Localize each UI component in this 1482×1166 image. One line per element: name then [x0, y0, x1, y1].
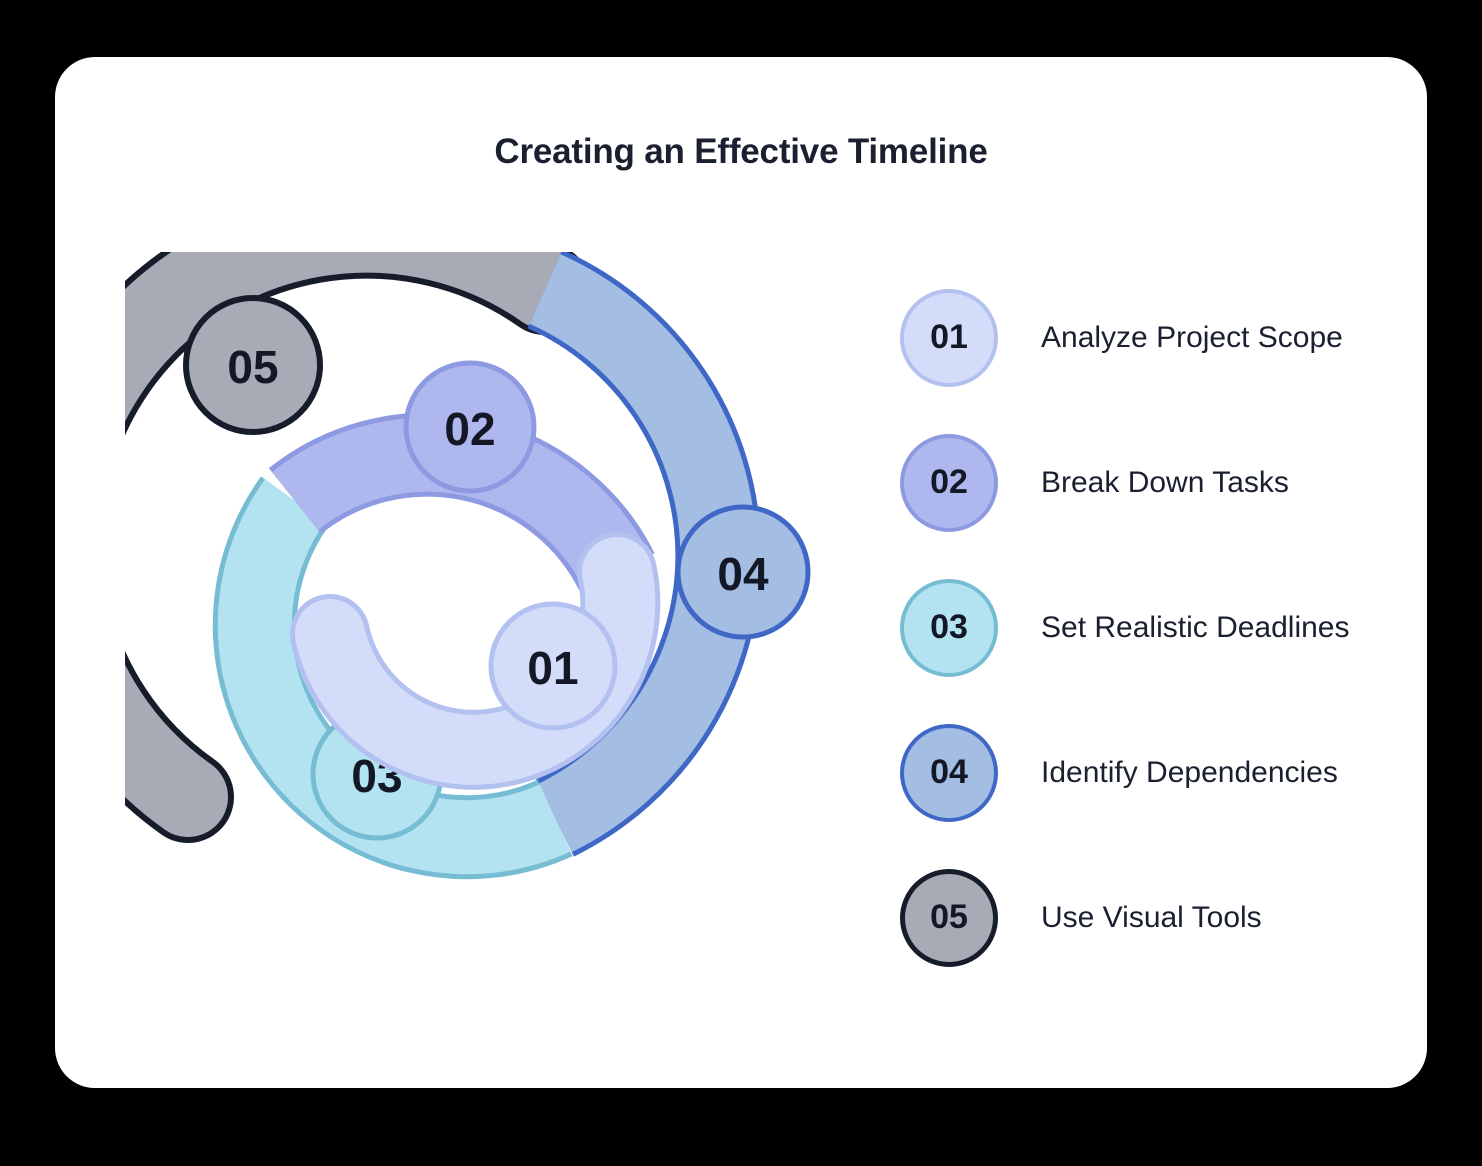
spiral-number-01: 01	[527, 642, 578, 694]
legend-item-04[interactable]: 04 Identify Dependencies	[900, 700, 1400, 845]
spiral-segment-02[interactable]: 02	[295, 363, 617, 572]
spiral-number-05: 05	[227, 341, 278, 393]
legend-badge-04: 04	[900, 724, 998, 822]
legend-item-05[interactable]: 05 Use Visual Tools	[900, 845, 1400, 990]
legend-badge-01: 01	[900, 289, 998, 387]
legend-label-01: Analyze Project Scope	[1041, 321, 1343, 355]
spiral-number-04: 04	[717, 548, 769, 600]
legend-label-02: Break Down Tasks	[1041, 466, 1289, 500]
legend-item-01[interactable]: 01 Analyze Project Scope	[900, 265, 1400, 410]
legend-item-02[interactable]: 02 Break Down Tasks	[900, 410, 1400, 555]
legend-label-04: Identify Dependencies	[1041, 756, 1338, 790]
spiral-segment-01[interactable]: 01	[330, 572, 620, 750]
legend-item-03[interactable]: 03 Set Realistic Deadlines	[900, 555, 1400, 700]
spiral-svg: 05 04 03 02	[125, 252, 865, 902]
legend-badge-02: 02	[900, 434, 998, 532]
legend: 01 Analyze Project Scope 02 Break Down T…	[900, 265, 1400, 990]
spiral-diagram: 05 04 03 02	[125, 252, 865, 902]
legend-label-03: Set Realistic Deadlines	[1041, 611, 1349, 645]
infographic-card: Creating an Effective Timeline 05 04	[55, 57, 1427, 1088]
legend-label-05: Use Visual Tools	[1041, 901, 1262, 935]
spiral-number-02: 02	[444, 403, 495, 455]
legend-badge-05: 05	[900, 869, 998, 967]
page-title: Creating an Effective Timeline	[55, 132, 1427, 172]
legend-badge-03: 03	[900, 579, 998, 677]
